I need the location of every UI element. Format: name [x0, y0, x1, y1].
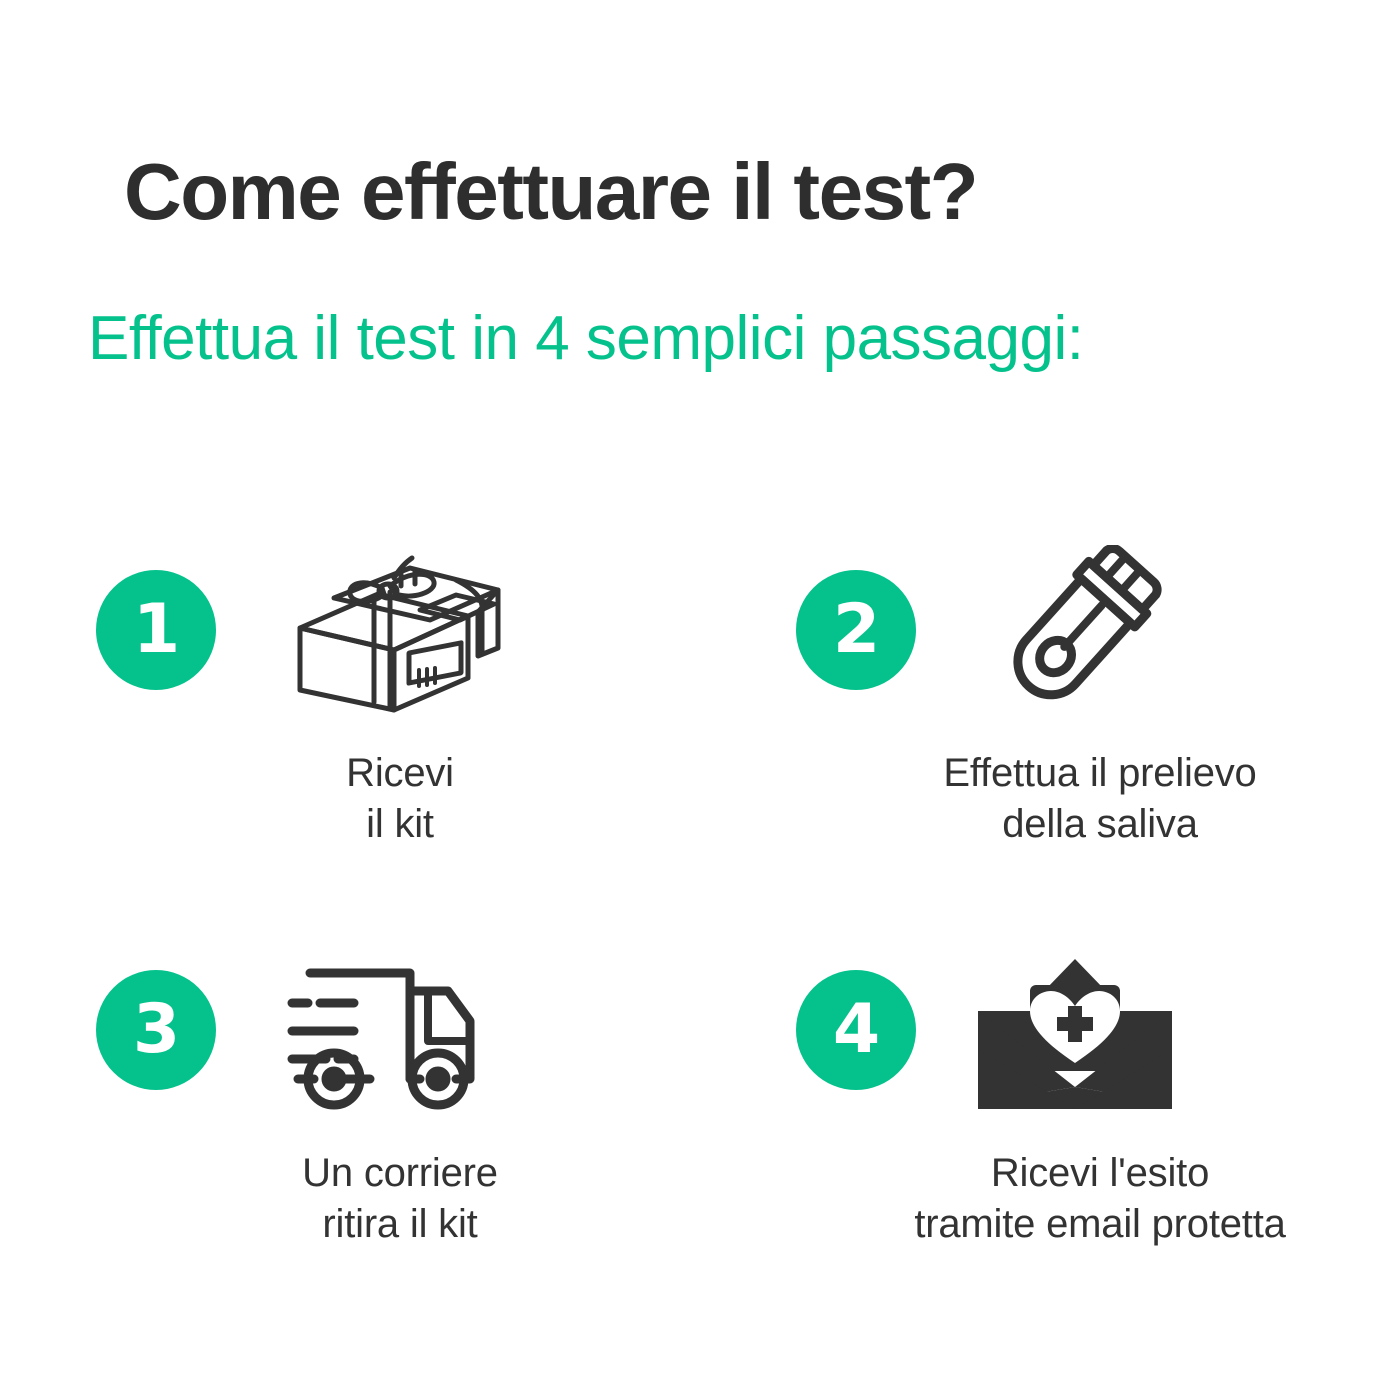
step-4-label-line2: tramite email protetta — [860, 1199, 1340, 1250]
step-1-label-line2: il kit — [160, 799, 640, 850]
step-1: 1 — [0, 520, 700, 920]
step-3-badge: 3 — [96, 970, 216, 1090]
page-subtitle: Effettua il test in 4 semplici passaggi: — [88, 305, 1084, 373]
step-3: 3 — [0, 920, 700, 1320]
step-4-label: Ricevi l'esito tramite email protetta — [860, 1148, 1340, 1250]
step-4-top: 4 — [700, 920, 1400, 1150]
step-4-number: 4 — [833, 996, 879, 1064]
step-1-label: Ricevi il kit — [160, 748, 640, 850]
step-1-label-line1: Ricevi — [160, 748, 640, 799]
step-4-badge: 4 — [796, 970, 916, 1090]
step-4: 4 — [700, 920, 1400, 1320]
step-1-badge: 1 — [96, 570, 216, 690]
step-2-label-line1: Effettua il prelievo — [860, 748, 1340, 799]
delivery-truck-icon — [270, 940, 530, 1130]
steps-grid: 1 — [0, 520, 1400, 1320]
infographic-page: Come effettuare il test? Effettua il tes… — [0, 0, 1400, 1400]
step-2-label-line2: della saliva — [860, 799, 1340, 850]
step-1-number: 1 — [133, 596, 179, 664]
gift-box-kit-icon — [270, 540, 530, 730]
test-tube-swab-icon — [970, 540, 1230, 730]
step-3-top: 3 — [0, 920, 700, 1150]
headings-block: Come effettuare il test? Effettua il tes… — [124, 150, 1324, 235]
envelope-heart-cross-icon — [970, 940, 1230, 1130]
page-title: Come effettuare il test? — [124, 150, 1324, 235]
step-3-label: Un corriere ritira il kit — [160, 1148, 640, 1250]
step-2-number: 2 — [833, 596, 879, 664]
step-3-label-line2: ritira il kit — [160, 1199, 640, 1250]
step-1-top: 1 — [0, 520, 700, 750]
step-2: 2 — [700, 520, 1400, 920]
step-2-badge: 2 — [796, 570, 916, 690]
step-4-label-line1: Ricevi l'esito — [860, 1148, 1340, 1199]
step-3-number: 3 — [133, 996, 179, 1064]
step-3-label-line1: Un corriere — [160, 1148, 640, 1199]
step-2-label: Effettua il prelievo della saliva — [860, 748, 1340, 850]
step-2-top: 2 — [700, 520, 1400, 750]
